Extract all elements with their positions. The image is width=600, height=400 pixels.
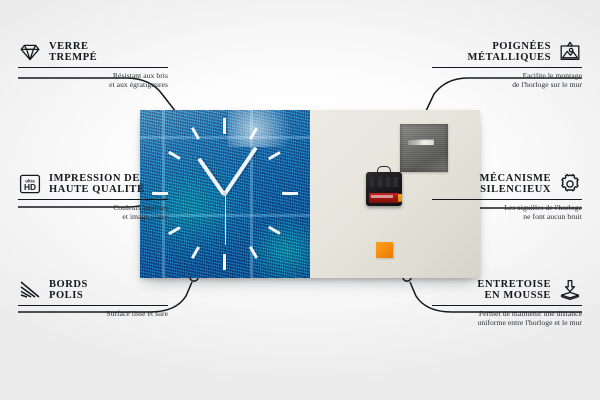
callout-title: ENTRETOISE EN MOUSSE (432, 279, 551, 302)
callout-subtitle: Couleurs intenses et image claire (18, 203, 168, 221)
callout-impression-haute-qualite: ultra HD IMPRESSION DE HAUTE QUALITÉ Cou… (18, 172, 168, 221)
battery (369, 193, 399, 203)
clock-tick (191, 127, 200, 140)
callout-title: MÉCANISME SILENCIEUX (432, 173, 551, 196)
clock-tick (191, 246, 200, 259)
callout-rule (432, 199, 582, 200)
diamond-icon (18, 40, 42, 64)
hanging-frame-icon (558, 40, 582, 64)
callout-poignees-metalliques: POIGNÉES MÉTALLIQUES Facilite le montage… (432, 40, 582, 89)
callout-header: ultra HD IMPRESSION DE HAUTE QUALITÉ (18, 172, 168, 196)
clock-tick (249, 127, 258, 140)
clock-center-pin (223, 192, 227, 196)
callout-subtitle: Facilite le montage de l'horloge sur le … (432, 71, 582, 89)
callout-rule (18, 67, 168, 68)
callout-subtitle: Résistant aux bris et aux égratignures (18, 71, 168, 89)
callout-entretoise-en-mousse: ENTRETOISE EN MOUSSE Permet de maintenir… (432, 278, 582, 327)
callout-rule (18, 199, 168, 200)
bracket-slot (408, 139, 434, 145)
callout-rule (432, 67, 582, 68)
callout-header: ENTRETOISE EN MOUSSE (432, 278, 582, 302)
clock-mechanism (366, 172, 402, 206)
polished-edges-icon (18, 278, 42, 302)
mechanism-detail (370, 177, 398, 187)
callout-rule (18, 305, 168, 306)
clock-hour-hand (197, 158, 225, 196)
callout-header: MÉCANISME SILENCIEUX (432, 172, 582, 196)
callout-subtitle: Surface lisse et sûre (18, 309, 168, 318)
clock-tick (223, 254, 226, 270)
callout-mecanisme-silencieux: MÉCANISME SILENCIEUX Les aiguilles de l'… (432, 172, 582, 221)
clock-tick (249, 246, 258, 259)
callout-header: VERRE TREMPÉ (18, 40, 168, 64)
callout-rule (432, 305, 582, 306)
clock-minute-hand (223, 147, 258, 196)
callout-bords-polis: BORDS POLIS Surface lisse et sûre (18, 278, 168, 318)
callout-header: POIGNÉES MÉTALLIQUES (432, 40, 582, 64)
callout-title: IMPRESSION DE HAUTE QUALITÉ (49, 173, 145, 196)
mechanism-hook (377, 166, 391, 174)
clock-tick (168, 151, 181, 160)
callout-subtitle: Permet de maintenir une distance uniform… (432, 309, 582, 327)
foam-spacer (376, 242, 393, 258)
callout-verre-trempe: VERRE TREMPÉ Résistant aux bris et aux é… (18, 40, 168, 89)
clock-tick (268, 151, 281, 160)
clock-tick (282, 192, 298, 195)
clock-second-hand (225, 193, 226, 245)
foam-spacer-icon (558, 278, 582, 302)
callout-title: BORDS POLIS (49, 279, 88, 302)
svg-text:HD: HD (24, 182, 36, 192)
metal-bracket (400, 124, 448, 172)
product-image (140, 110, 480, 278)
callout-subtitle: Les aiguilles de l'horloge ne font aucun… (432, 203, 582, 221)
callout-title: VERRE TREMPÉ (49, 41, 97, 64)
battery-label (371, 195, 393, 198)
callout-header: BORDS POLIS (18, 278, 168, 302)
gear-icon (558, 172, 582, 196)
clock-tick (223, 118, 226, 134)
clock-tick (268, 226, 281, 235)
callout-title: POIGNÉES MÉTALLIQUES (432, 41, 551, 64)
clock-tick (168, 226, 181, 235)
infographic-stage: VERRE TREMPÉ Résistant aux bris et aux é… (0, 0, 600, 400)
ultra-hd-icon: ultra HD (18, 172, 42, 196)
